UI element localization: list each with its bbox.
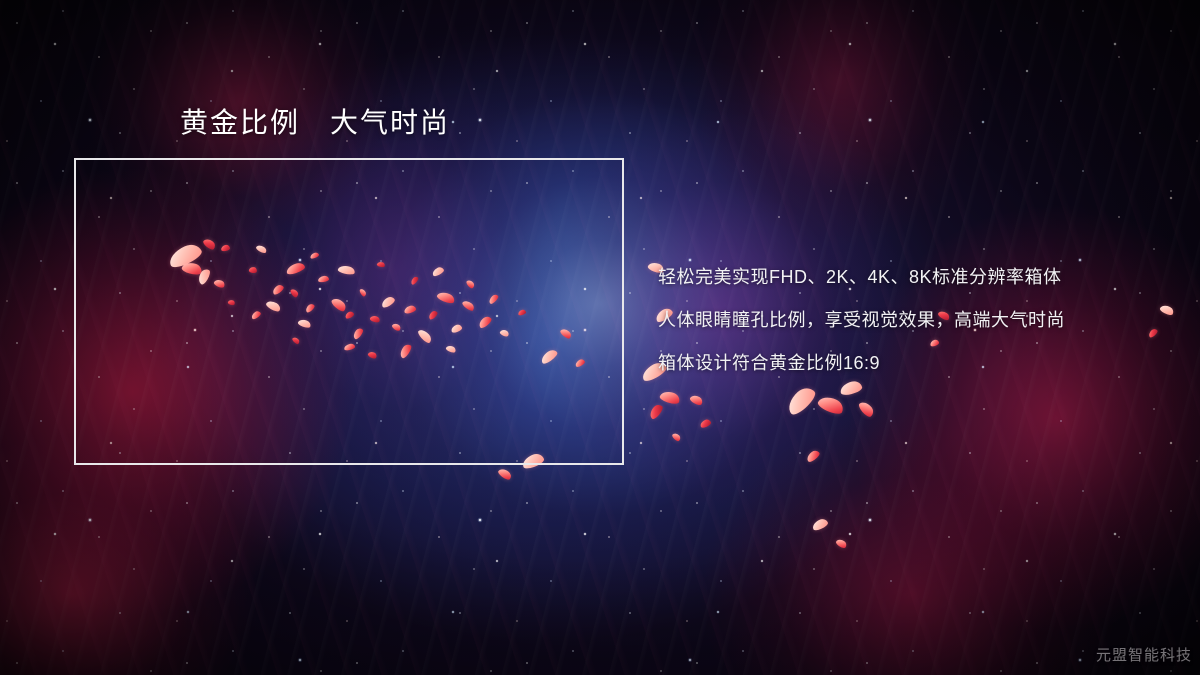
page-title: 黄金比例 大气时尚 <box>180 101 450 141</box>
petal-shape <box>835 538 848 550</box>
petal-shape <box>783 383 818 417</box>
body-copy-block: 轻松完美实现FHD、2K、4K、8K标准分辨率箱体 人体眼睛瞳孔比例，享受视觉效… <box>658 256 1128 385</box>
watermark: 元盟智能科技 <box>1096 644 1192 665</box>
preview-frame[interactable] <box>74 158 624 465</box>
petal-shape <box>699 418 712 429</box>
petal-shape <box>659 389 681 406</box>
petal-shape <box>671 432 682 443</box>
petal-shape <box>1159 303 1175 316</box>
body-copy-line-1: 轻松完美实现FHD、2K、4K、8K标准分辨率箱体 <box>658 256 1128 299</box>
petal-shape <box>857 399 876 418</box>
petal-shape <box>689 393 704 406</box>
petal-shape <box>811 517 829 532</box>
petal-shape <box>647 402 664 420</box>
petal-shape <box>805 449 821 464</box>
presentation-slide: 黄金比例 大气时尚 轻松完美实现FHD、2K、4K、8K标准分辨率箱体 人体眼睛… <box>0 0 1200 675</box>
petal-shape <box>1147 327 1159 338</box>
body-copy-line-2: 人体眼睛瞳孔比例，享受视觉效果，高端大气时尚 <box>658 299 1128 342</box>
petal-shape <box>816 393 845 416</box>
body-copy-line-3: 箱体设计符合黄金比例16:9 <box>658 342 1128 385</box>
petal-shape <box>497 467 513 482</box>
